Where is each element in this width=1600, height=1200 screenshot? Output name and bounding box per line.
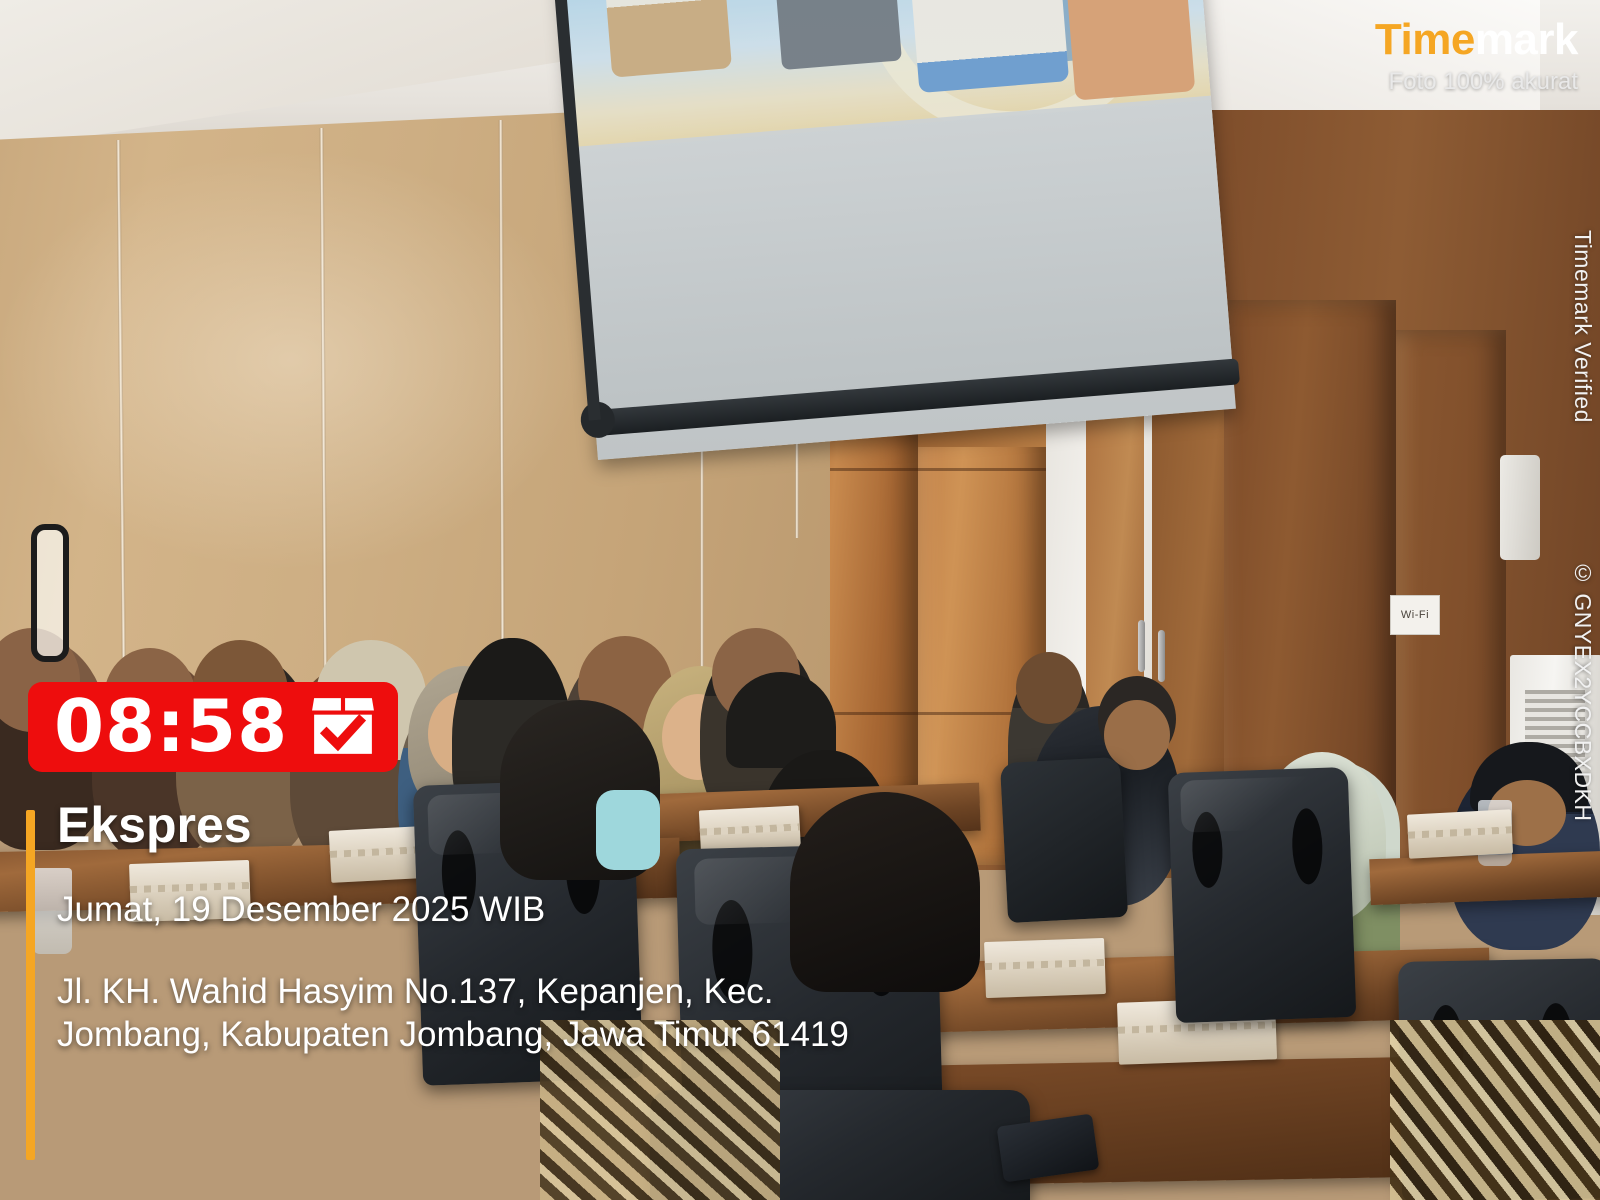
office-chair[interactable] (1168, 767, 1357, 1023)
slide-figure (764, 0, 902, 70)
batik-fabric (1390, 1020, 1600, 1200)
stamp-address: Jl. KH. Wahid Hasyim No.137, Kepanjen, K… (57, 970, 867, 1058)
timemark-logo: Timemark Foto 100% akurat (1375, 18, 1578, 94)
timemark-verification-code: © GNYEX2YCCBXDKH (1569, 560, 1596, 822)
slide-figure (901, 0, 1069, 93)
timemark-wordmark-time: Time (1375, 15, 1475, 64)
stacking-chair[interactable] (1000, 757, 1128, 923)
timemark-photo: Wi-Fi JOMBANG bang, 19 Desember 2025 (0, 0, 1600, 1200)
package-check-icon (310, 696, 376, 756)
timemark-tagline: Foto 100% akurat (1375, 70, 1578, 94)
column-panel-line (800, 468, 1046, 471)
slide-figure (596, 0, 732, 78)
attendee-face (1104, 700, 1170, 770)
timemark-wordmark-mark: mark (1475, 15, 1578, 64)
time-value: 08:58 (54, 692, 288, 760)
accent-bar (26, 810, 35, 1160)
slide-figure (1060, 0, 1195, 101)
projector-screen: JOMBANG bang, 19 Desember 2025 (549, 0, 1236, 460)
wifi-sign: Wi-Fi (1390, 595, 1440, 635)
capsule-marker (31, 524, 69, 662)
stamp-date: Jumat, 19 Desember 2025 WIB (57, 891, 867, 930)
stamp-title: Ekspres (57, 798, 867, 853)
stamp-info: Ekspres Jumat, 19 Desember 2025 WIB Jl. … (57, 798, 867, 1057)
door-handle-right[interactable] (1158, 630, 1165, 682)
timemark-verified-label: Timemark Verified (1569, 230, 1596, 423)
snack-box (984, 938, 1106, 998)
wall-speaker (1500, 455, 1540, 560)
door-handle-left[interactable] (1138, 620, 1145, 672)
snack-box (1407, 809, 1513, 858)
timemark-wordmark: Timemark (1375, 18, 1578, 62)
time-badge: 08:58 (28, 682, 398, 772)
column-panel-line (800, 712, 1046, 715)
